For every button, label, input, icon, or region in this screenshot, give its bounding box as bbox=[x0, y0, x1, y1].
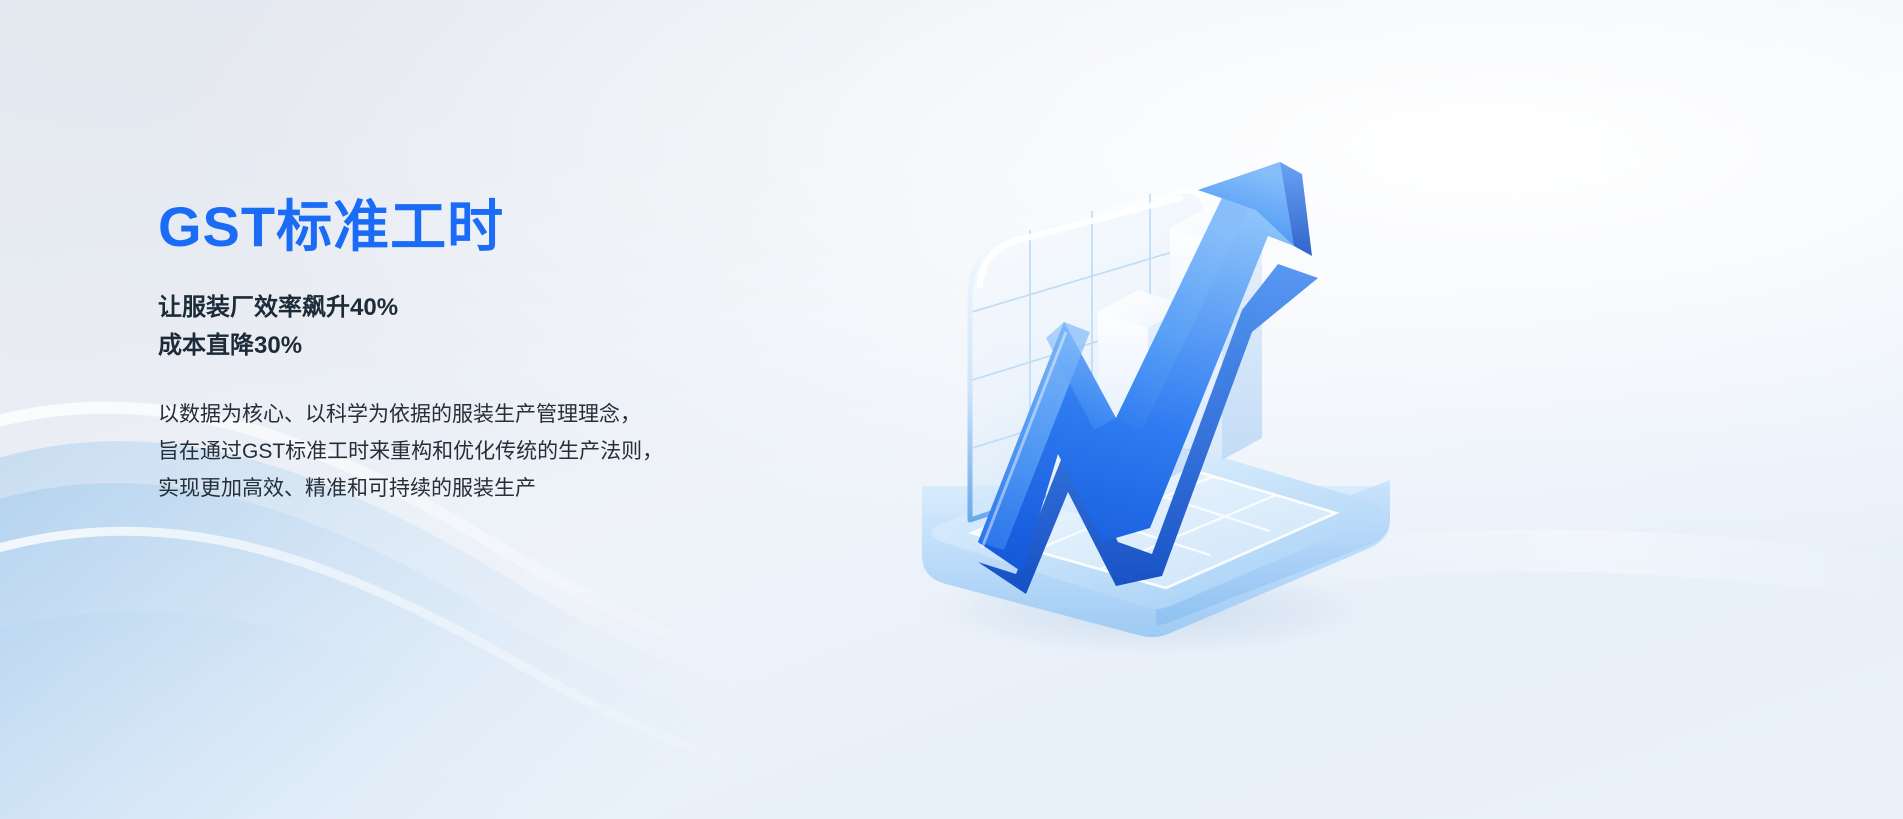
hero-banner: GST标准工时 让服装厂效率飙升40% 成本直降30% 以数据为核心、以科学为依… bbox=[0, 0, 1903, 819]
hero-subtitle: 让服装厂效率飙升40% 成本直降30% bbox=[158, 289, 918, 366]
subtitle-line-1: 让服装厂效率飙升40% bbox=[158, 289, 918, 327]
hero-description: 以数据为核心、以科学为依据的服装生产管理理念， 旨在通过GST标准工时来重构和优… bbox=[158, 396, 918, 508]
growth-chart-illustration bbox=[850, 50, 1450, 670]
subtitle-line-2: 成本直降30% bbox=[158, 327, 918, 365]
hero-text-block: GST标准工时 让服装厂效率飙升40% 成本直降30% 以数据为核心、以科学为依… bbox=[158, 196, 918, 508]
description-line-2: 旨在通过GST标准工时来重构和优化传统的生产法则， bbox=[158, 433, 918, 470]
page-title: GST标准工时 bbox=[158, 196, 918, 259]
description-line-3: 实现更加高效、精准和可持续的服装生产 bbox=[158, 470, 918, 507]
description-line-1: 以数据为核心、以科学为依据的服装生产管理理念， bbox=[158, 396, 918, 433]
